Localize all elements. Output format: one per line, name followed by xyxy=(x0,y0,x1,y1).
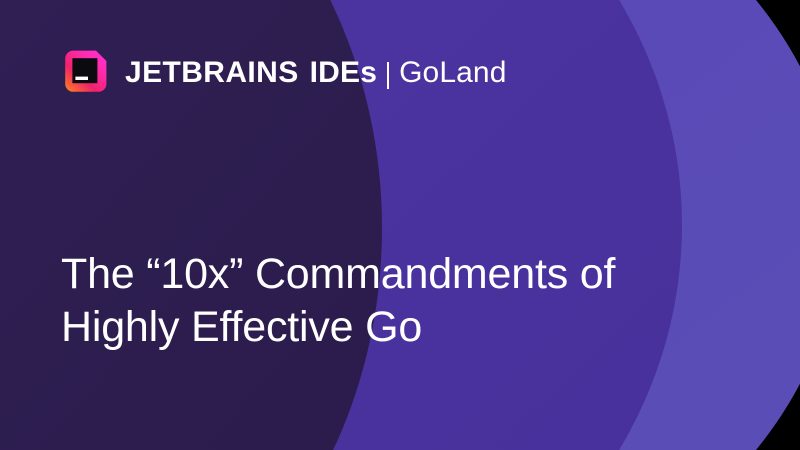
title-line-2: Highly Effective Go xyxy=(61,301,741,354)
slide-title: The “10x” Commandments of Highly Effecti… xyxy=(61,248,741,354)
jetbrains-logo-icon xyxy=(60,49,108,97)
brand-product: GoLand xyxy=(399,58,506,88)
brand-name: JETBRAINS xyxy=(125,58,299,88)
brand-lockup: JETBRAINS IDEs GoLand xyxy=(60,48,506,98)
brand-family: IDEs xyxy=(310,58,378,88)
presentation-slide: JETBRAINS IDEs GoLand The “10x” Commandm… xyxy=(0,0,800,450)
title-line-1: The “10x” Commandments of xyxy=(61,248,741,301)
brand-wordmark: JETBRAINS IDEs GoLand xyxy=(125,58,506,88)
brand-divider xyxy=(387,62,389,89)
